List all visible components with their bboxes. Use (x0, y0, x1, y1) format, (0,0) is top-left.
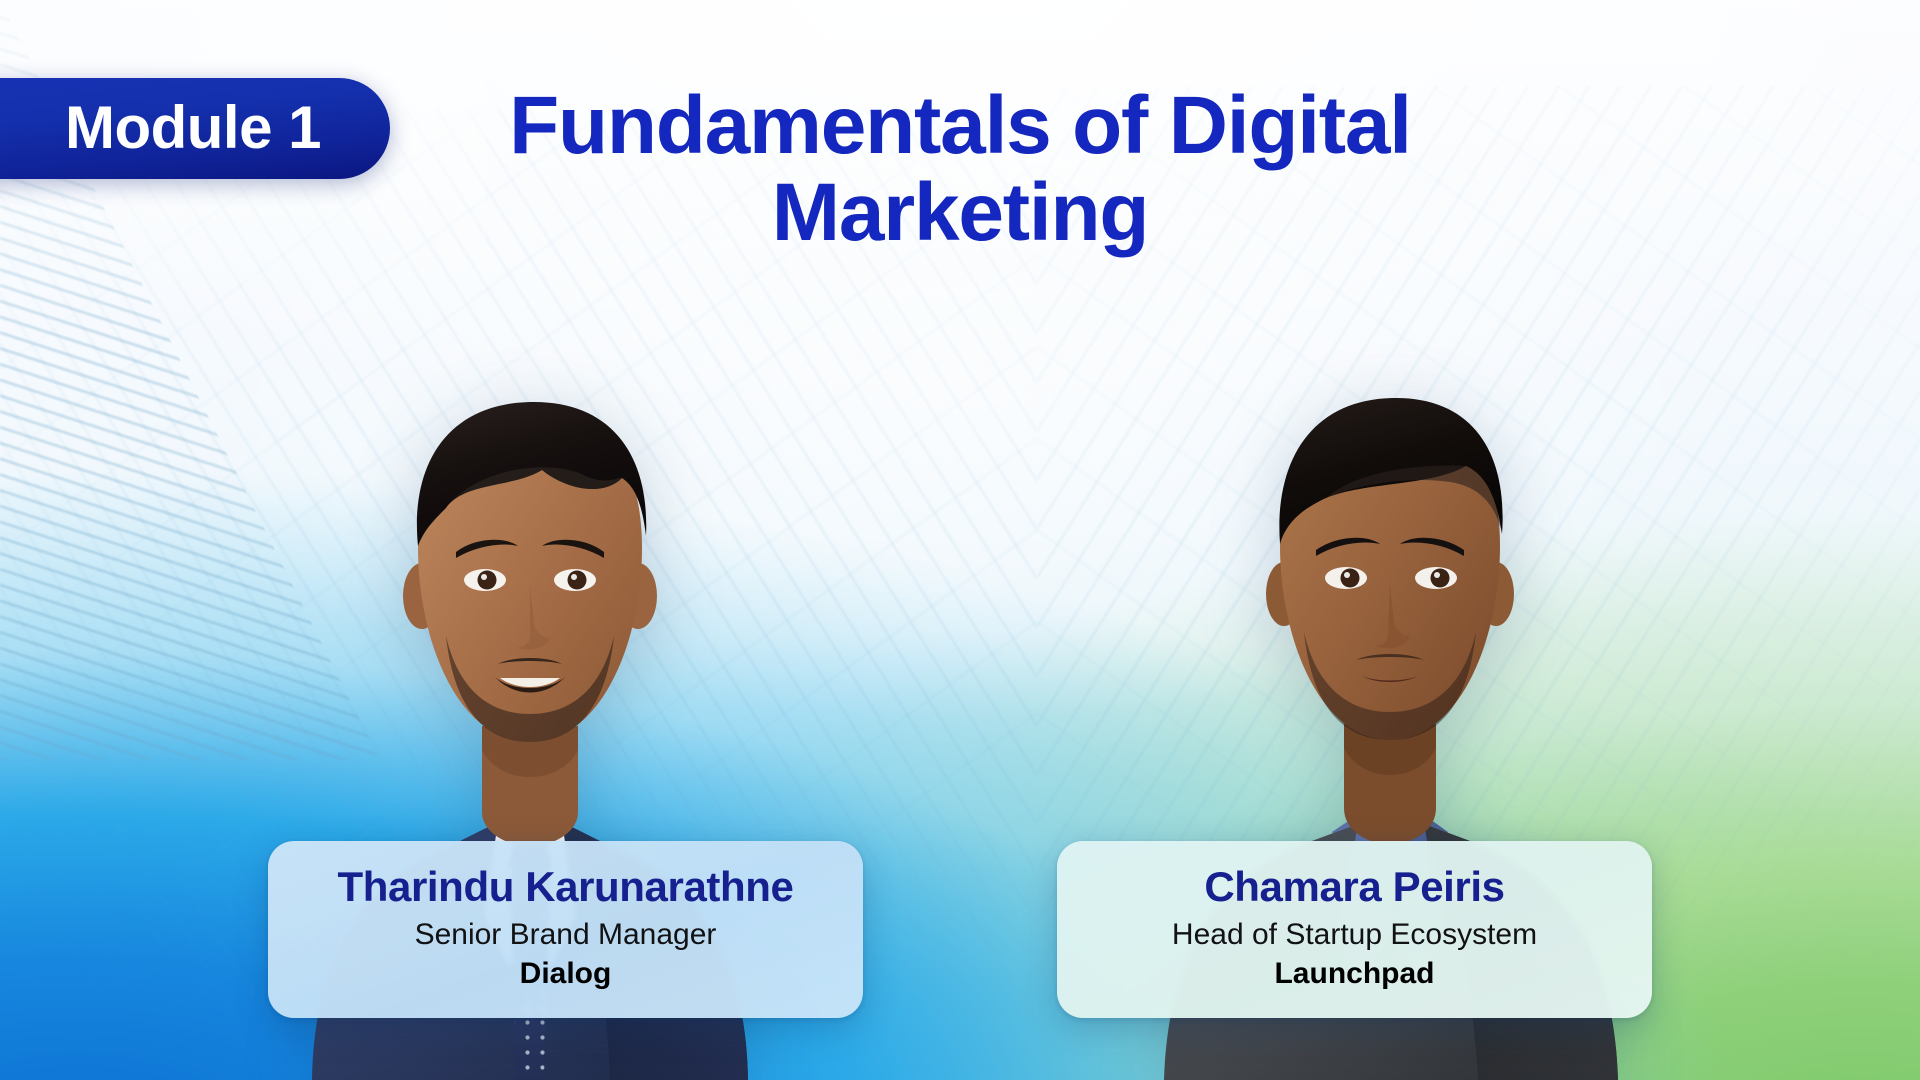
speaker-left-organization: Dialog (296, 957, 835, 992)
speaker-card-right: Chamara Peiris Head of Startup Ecosystem… (1057, 841, 1652, 1018)
speaker-right-role: Head of Startup Ecosystem (1085, 918, 1624, 953)
speaker-right-organization: Launchpad (1085, 957, 1624, 992)
module-badge: Module 1 (0, 78, 390, 179)
speaker-left-role: Senior Brand Manager (296, 918, 835, 953)
speaker-card-left: Tharindu Karunarathne Senior Brand Manag… (268, 841, 863, 1018)
slide-title-line-1: Fundamentals of Digital (370, 83, 1550, 170)
speaker-left-name: Tharindu Karunarathne (296, 863, 835, 910)
slide-title-line-2: Marketing (370, 170, 1550, 257)
presentation-slide: Module 1 Fundamentals of Digital Marketi… (0, 0, 1920, 1080)
speaker-right-name: Chamara Peiris (1085, 863, 1624, 910)
module-badge-label: Module 1 (65, 98, 321, 158)
slide-title: Fundamentals of Digital Marketing (370, 83, 1550, 257)
